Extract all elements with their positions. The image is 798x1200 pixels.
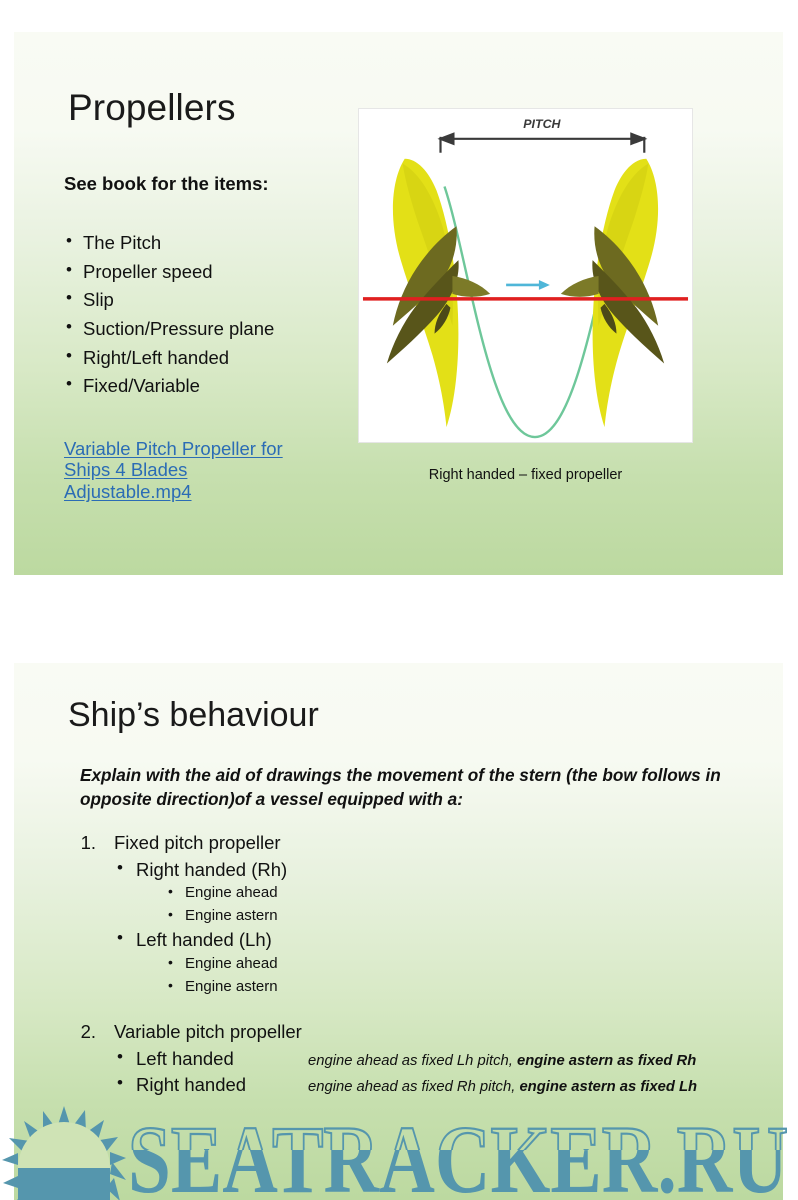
outline-label: Variable pitch propeller bbox=[114, 1021, 302, 1042]
list-item: Right/Left handed bbox=[64, 347, 326, 369]
list-item: Slip bbox=[64, 289, 326, 311]
outline-item-2-1: Left handed engine ahead as fixed Lh pit… bbox=[114, 1047, 768, 1071]
outline-label: Left handed bbox=[136, 1047, 308, 1071]
slide2-outline-list: 1. Fixed pitch propeller Right handed (R… bbox=[68, 831, 768, 1099]
list-item: Suction/Pressure plane bbox=[64, 318, 326, 340]
outline-number: 2. bbox=[72, 1020, 96, 1044]
outline-item-1-2-1: Engine ahead bbox=[164, 954, 768, 974]
pitch-label: PITCH bbox=[523, 117, 561, 131]
slide1-title: Propellers bbox=[68, 88, 236, 129]
outline-item-1-2-2: Engine astern bbox=[164, 977, 768, 997]
list-item: Propeller speed bbox=[64, 261, 326, 283]
slide2-intro-text: Explain with the aid of drawings the mov… bbox=[80, 763, 745, 812]
outline-item-2-2: Right handed engine ahead as fixed Rh pi… bbox=[114, 1073, 768, 1097]
propeller-pitch-diagram: PITCH bbox=[358, 108, 693, 443]
slide1-lead-text: See book for the items: bbox=[64, 173, 269, 195]
slide1-bullet-list: The Pitch Propeller speed Slip Suction/P… bbox=[64, 232, 326, 404]
figure-caption: Right handed – fixed propeller bbox=[358, 467, 693, 483]
outline-item-1-2: Left handed (Lh) bbox=[114, 928, 768, 952]
outline-label: Right handed bbox=[136, 1073, 308, 1097]
list-spacer bbox=[68, 999, 768, 1020]
outline-annotation: engine ahead as fixed Rh pitch, engine a… bbox=[308, 1078, 697, 1097]
outline-label: Fixed pitch propeller bbox=[114, 832, 281, 853]
outline-item-1-1-2: Engine astern bbox=[164, 906, 768, 926]
outline-annotation: engine ahead as fixed Lh pitch, engine a… bbox=[308, 1052, 696, 1071]
slide-propellers: Propellers See book for the items: The P… bbox=[14, 32, 783, 575]
outline-item-2: 2. Variable pitch propeller bbox=[68, 1020, 768, 1044]
video-hyperlink[interactable]: Variable Pitch Propeller for Ships 4 Bla… bbox=[64, 438, 318, 502]
outline-item-1-1-1: Engine ahead bbox=[164, 883, 768, 903]
slide-ships-behaviour: Ship’s behaviour Explain with the aid of… bbox=[14, 663, 783, 1200]
presentation-page: Propellers See book for the items: The P… bbox=[0, 0, 798, 1200]
list-item: The Pitch bbox=[64, 232, 326, 254]
list-item: Fixed/Variable bbox=[64, 375, 326, 397]
outline-item-1: 1. Fixed pitch propeller bbox=[68, 831, 768, 855]
outline-item-1-1: Right handed (Rh) bbox=[114, 858, 768, 882]
slide2-title: Ship’s behaviour bbox=[68, 697, 319, 734]
outline-number: 1. bbox=[72, 831, 96, 855]
